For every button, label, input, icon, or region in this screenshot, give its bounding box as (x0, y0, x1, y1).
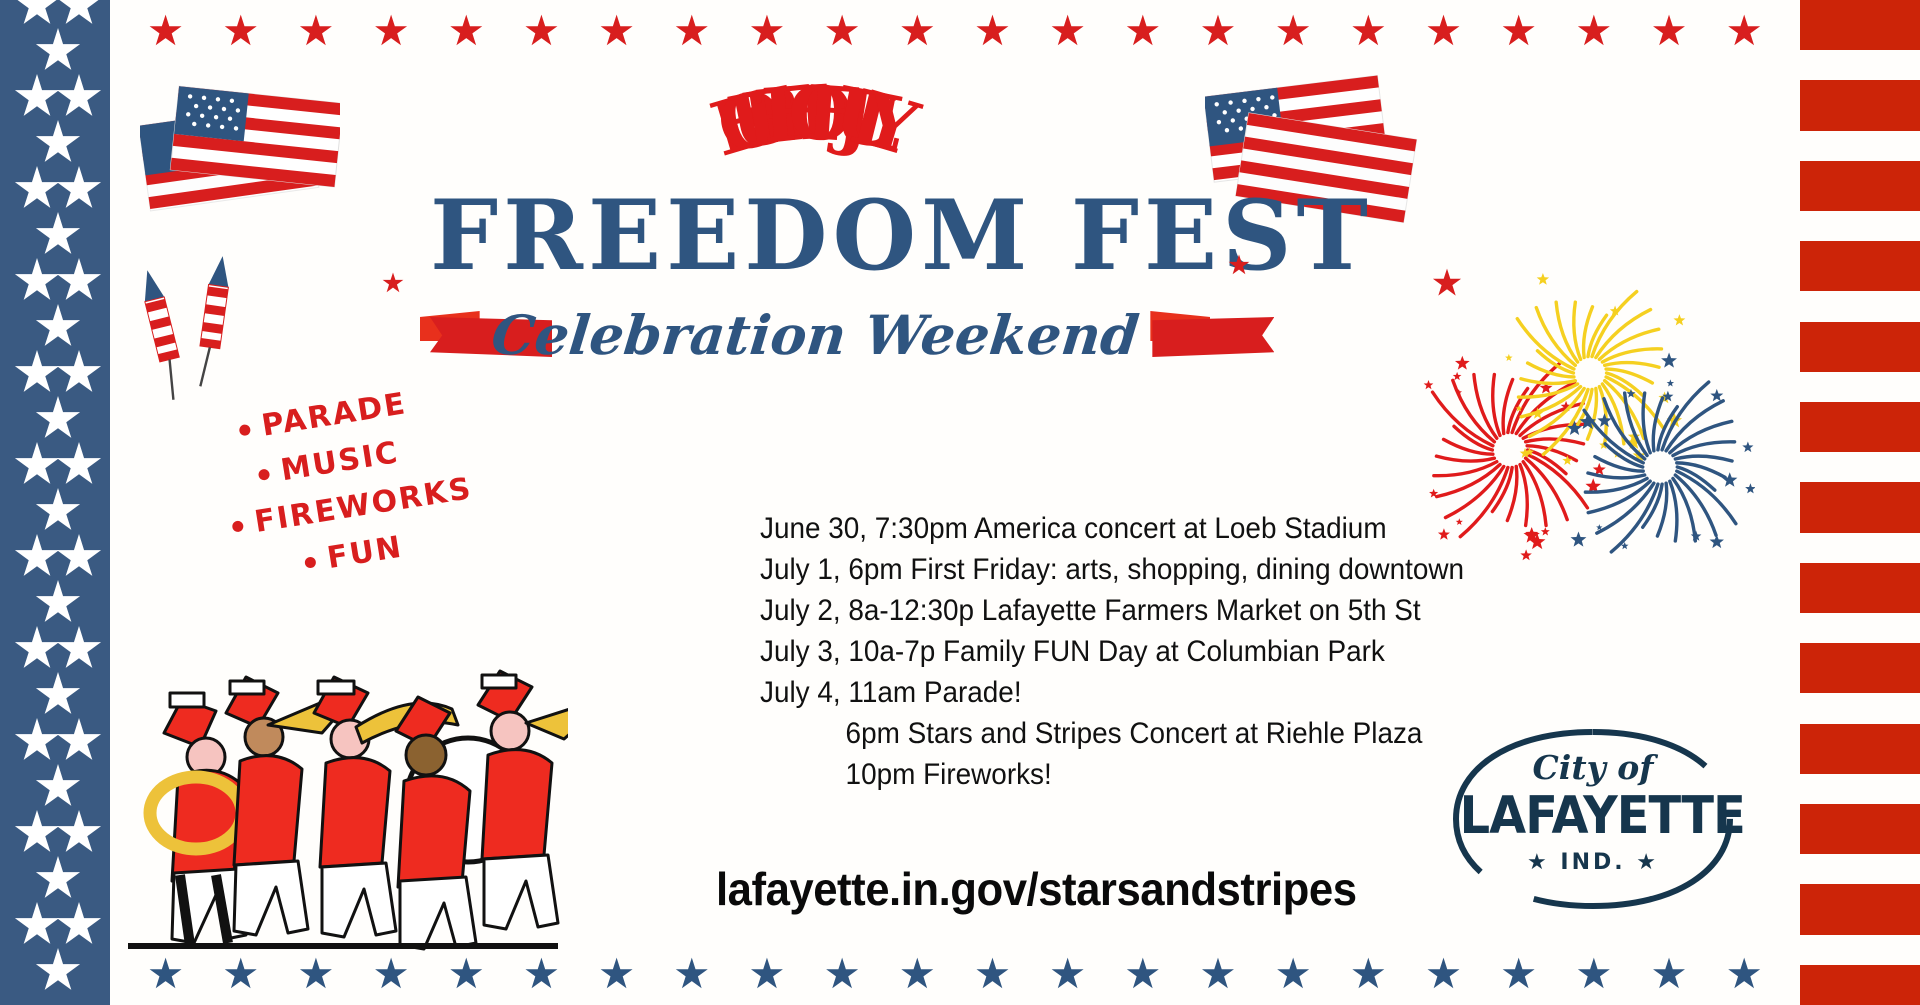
border-stripe (1800, 241, 1920, 291)
city-of-lafayette-logo: City of LAFAYETTE ★ IND. ★ (1448, 724, 1738, 914)
border-star-icon (975, 14, 1009, 48)
firework-ray (1588, 473, 1645, 478)
border-star-icon (750, 957, 784, 991)
firework-rockets-icon (132, 248, 262, 418)
border-star-icon (224, 14, 258, 48)
border-star-icon (825, 14, 859, 48)
border-star-icon (14, 74, 60, 120)
firework-spark-star (1520, 549, 1531, 560)
feature-highlight-list: PARADEMUSICFIREWORKSFUN (215, 378, 484, 602)
border-stripe (1800, 643, 1920, 693)
border-stripe (1800, 402, 1920, 452)
firework-spark-star (1745, 483, 1755, 493)
border-star-icon (299, 14, 333, 48)
border-star-icon (1577, 957, 1611, 991)
border-star-icon (14, 0, 60, 28)
border-star-icon (675, 957, 709, 991)
border-star-icon (35, 120, 81, 166)
border-star-icon (1727, 14, 1761, 48)
firework-spark-star (1661, 353, 1677, 368)
border-star-icon (224, 957, 258, 991)
border-star-icon (1577, 14, 1611, 48)
border-stripe (1800, 563, 1920, 613)
border-stripe (1800, 161, 1920, 211)
firework-spark-star (1541, 527, 1550, 535)
border-star-icon (35, 28, 81, 74)
border-star-icon (56, 718, 102, 764)
firework-spark-star (1537, 273, 1549, 285)
border-star-icon (1652, 14, 1686, 48)
firework-ray (1675, 456, 1732, 461)
border-star-icon (299, 957, 333, 991)
firework-ray (1605, 363, 1659, 368)
firework-ray (1436, 456, 1494, 461)
schedule-item: July 4, 11am Parade! (760, 672, 1430, 713)
firework-ray (1521, 379, 1575, 384)
border-star-icon (14, 810, 60, 856)
border-star-icon (524, 957, 558, 991)
border-star-icon (56, 166, 102, 212)
border-star-icon (14, 626, 60, 672)
border-star-icon (1652, 957, 1686, 991)
border-star-icon (14, 258, 60, 304)
firework-spark-star (1424, 380, 1434, 389)
top-star-border (110, 0, 1800, 62)
right-stripe-border (1800, 0, 1920, 1005)
border-star-icon (449, 14, 483, 48)
border-star-icon (675, 14, 709, 48)
border-star-icon (600, 957, 634, 991)
border-star-icon (1051, 957, 1085, 991)
border-star-icon (14, 902, 60, 948)
firework-spark-star (1505, 354, 1513, 361)
feature-label: MUSIC (278, 435, 401, 488)
border-star-icon (56, 810, 102, 856)
border-star-icon (56, 902, 102, 948)
border-star-icon (56, 442, 102, 488)
border-star-icon (1276, 957, 1310, 991)
border-star-icon (56, 258, 102, 304)
border-star-icon (35, 580, 81, 626)
border-star-icon (374, 14, 408, 48)
headline-block: FOURTH OF JULY FREEDOM FEST Celebration … (430, 66, 1200, 370)
firework-spark-star (1722, 472, 1737, 487)
firework-ray (1599, 329, 1658, 359)
firework-ray (1492, 468, 1512, 512)
poster-canvas: FOURTH OF JULY FREEDOM FEST Celebration … (0, 0, 1920, 1005)
american-flag-left-icon (140, 78, 340, 238)
celebration-weekend-row: Celebration Weekend (430, 300, 1200, 370)
border-star-icon (35, 304, 81, 350)
border-star-icon (35, 212, 81, 258)
firework-ray (1670, 481, 1677, 541)
celebration-weekend-script: Celebration Weekend (474, 303, 1155, 367)
border-star-icon (1351, 957, 1385, 991)
left-star-border (0, 0, 110, 1005)
schedule-item: July 3, 10a-7p Family FUN Day at Columbi… (760, 631, 1430, 672)
border-star-icon (56, 350, 102, 396)
border-star-icon (56, 534, 102, 580)
logo-script-text: City of (1448, 748, 1738, 787)
event-schedule-list: June 30, 7:30pm America concert at Loeb … (760, 508, 1480, 795)
border-star-icon (1051, 14, 1085, 48)
marching-band-icon (118, 585, 568, 955)
border-star-icon (750, 14, 784, 48)
border-star-icon (35, 856, 81, 902)
border-star-icon (1276, 14, 1310, 48)
border-star-icon (56, 74, 102, 120)
border-star-icon (1351, 14, 1385, 48)
border-star-icon (14, 534, 60, 580)
firework-spark-star (1455, 356, 1470, 370)
schedule-item: July 2, 8a-12:30p Lafayette Farmers Mark… (760, 590, 1430, 631)
border-star-icon (900, 14, 934, 48)
firework-ray (1520, 465, 1527, 526)
border-star-icon (14, 166, 60, 212)
bullet-dot-icon (232, 520, 245, 533)
firework-ray (1658, 407, 1677, 450)
feature-label: FUN (325, 530, 406, 576)
border-star-icon (14, 350, 60, 396)
logo-state-text: ★ IND. ★ (1448, 850, 1738, 875)
firework-ray (1643, 484, 1662, 527)
border-star-icon (1502, 957, 1536, 991)
border-stripe (1800, 322, 1920, 372)
firework-ray (1521, 387, 1580, 417)
ribbon-right-icon (1152, 311, 1200, 359)
border-star-icon (600, 14, 634, 48)
border-star-icon (1427, 14, 1461, 48)
border-star-icon (35, 672, 81, 718)
fourth-of-july-arched-title: FOURTH OF JULY (430, 66, 1200, 174)
border-star-icon (1427, 957, 1461, 991)
firework-ray (1588, 315, 1607, 356)
border-star-icon (1502, 14, 1536, 48)
border-star-icon (900, 957, 934, 991)
border-star-icon (1126, 14, 1160, 48)
border-star-icon (35, 948, 81, 994)
schedule-item: 10pm Fireworks! (760, 754, 1430, 795)
firework-ray (1670, 421, 1732, 452)
firework-spark-star (1667, 379, 1674, 386)
border-star-icon (56, 0, 102, 28)
bullet-dot-icon (239, 424, 252, 437)
border-stripe (1800, 884, 1920, 934)
border-stripe (1800, 482, 1920, 532)
website-url[interactable]: lafayette.in.gov/starsandstripes (716, 862, 1357, 916)
border-stripe (1800, 0, 1920, 50)
border-star-icon (1201, 14, 1235, 48)
border-star-icon (149, 957, 183, 991)
border-star-icon (1201, 957, 1235, 991)
schedule-item: 6pm Stars and Stripes Concert at Riehle … (760, 713, 1430, 754)
border-star-icon (825, 957, 859, 991)
decorative-star-left-icon (382, 272, 404, 294)
bullet-dot-icon (304, 556, 317, 569)
border-stripe (1800, 804, 1920, 854)
schedule-item: July 1, 6pm First Friday: arts, shopping… (760, 549, 1430, 590)
border-star-icon (35, 396, 81, 442)
firework-spark-star (1571, 532, 1587, 547)
border-star-icon (975, 957, 1009, 991)
firework-spark-star (1710, 389, 1723, 401)
border-star-icon (35, 488, 81, 534)
border-star-icon (374, 957, 408, 991)
border-star-icon (449, 957, 483, 991)
firework-ray (1493, 375, 1500, 436)
border-star-icon (56, 626, 102, 672)
logo-city-name: LAFAYETTE (1460, 786, 1727, 846)
border-star-icon (14, 718, 60, 764)
firework-spark-star (1742, 441, 1753, 452)
border-star-icon (14, 442, 60, 488)
border-stripe (1800, 724, 1920, 774)
firework-spark-star (1673, 314, 1685, 325)
bullet-dot-icon (258, 468, 271, 481)
border-star-icon (524, 14, 558, 48)
firework-spark-star (1453, 372, 1462, 380)
firework-ray (1574, 302, 1581, 359)
firework-ray (1643, 393, 1650, 453)
border-star-icon (149, 14, 183, 48)
border-star-icon (1126, 957, 1160, 991)
ribbon-left-icon (430, 311, 478, 359)
border-star-icon (35, 764, 81, 810)
feature-label: PARADE (259, 386, 409, 443)
border-stripe (1800, 80, 1920, 130)
freedom-fest-title: FREEDOM FEST (430, 188, 1200, 284)
border-star-icon (1727, 957, 1761, 991)
firework-spark-star (1710, 534, 1724, 548)
schedule-item: June 30, 7:30pm America concert at Loeb … (760, 508, 1430, 549)
firework-ray (1437, 465, 1500, 497)
border-stripe (1800, 965, 1920, 1005)
